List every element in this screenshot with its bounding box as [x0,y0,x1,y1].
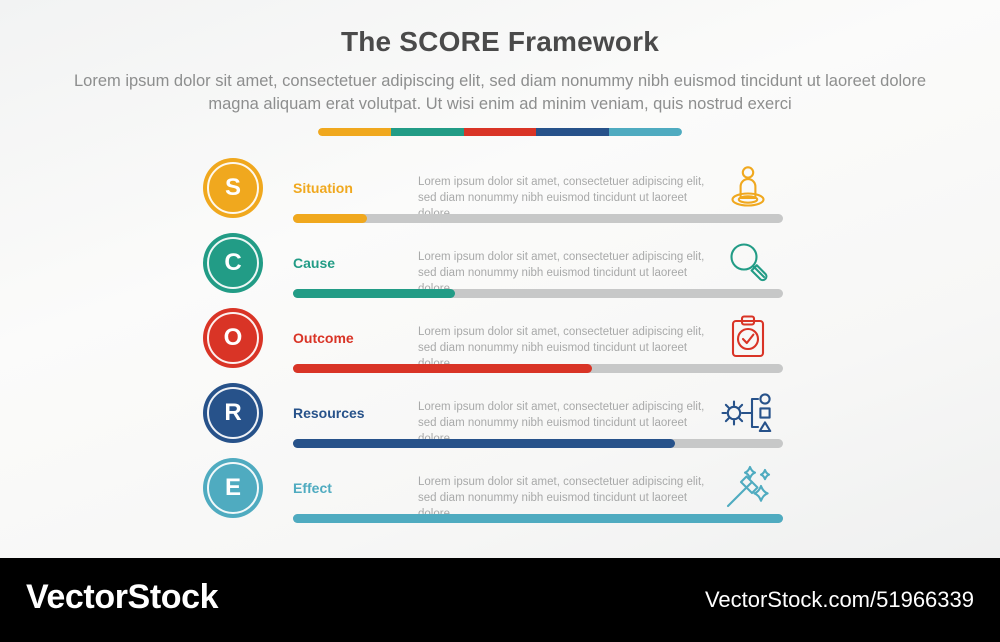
progress-track [293,364,783,373]
page-title: The SCORE Framework [0,26,1000,58]
infographic-canvas: The SCORE Framework Lorem ipsum dolor si… [0,0,1000,642]
score-row-situation: SSituationLorem ipsum dolor sit amet, co… [0,156,1000,231]
progress-track [293,214,783,223]
letter-badge-e[interactable]: E [203,458,263,518]
row-label: Situation [293,180,408,196]
row-label: Cause [293,255,408,271]
row-label: Effect [293,480,408,496]
row-label: Outcome [293,330,408,346]
progress-fill [293,439,675,448]
progress-track [293,289,783,298]
badge-letter: E [225,476,241,500]
gear-network-icon [712,387,784,439]
progress-fill [293,289,455,298]
legend-segment-resources [536,128,609,136]
letter-badge-c[interactable]: C [203,233,263,293]
legend-segment-cause [391,128,464,136]
letter-badge-s[interactable]: S [203,158,263,218]
magic-wand-icon [712,462,784,514]
page-subtitle: Lorem ipsum dolor sit amet, consectetuer… [60,70,940,116]
letter-badge-r[interactable]: R [203,383,263,443]
badge-letter: S [225,176,241,200]
row-label: Resources [293,405,408,421]
score-rows-list: SSituationLorem ipsum dolor sit amet, co… [0,156,1000,531]
vectorstock-url: VectorStock.com/51966339 [705,587,974,613]
score-row-effect: EEffectLorem ipsum dolor sit amet, conse… [0,456,1000,531]
slide-stage: The SCORE Framework Lorem ipsum dolor si… [0,0,1000,558]
color-legend-bar [318,128,682,136]
clipboard-check-icon [712,312,784,364]
magnifying-glass-icon [712,237,784,289]
progress-track [293,439,783,448]
progress-fill [293,364,592,373]
progress-fill [293,514,783,523]
badge-letter: R [224,401,241,425]
badge-letter: C [224,251,241,275]
legend-segment-situation [318,128,391,136]
letter-badge-o[interactable]: O [203,308,263,368]
progress-fill [293,214,367,223]
badge-letter: O [224,326,243,350]
legend-segment-effect [609,128,682,136]
score-row-cause: CCauseLorem ipsum dolor sit amet, consec… [0,231,1000,306]
score-row-outcome: OOutcomeLorem ipsum dolor sit amet, cons… [0,306,1000,381]
progress-track [293,514,783,523]
vectorstock-logo: VectorStock [26,578,218,617]
footer-bar: VectorStock VectorStock.com/51966339 [0,558,1000,642]
person-location-icon [712,162,784,214]
score-row-resources: RResourcesLorem ipsum dolor sit amet, co… [0,381,1000,456]
legend-segment-outcome [464,128,537,136]
